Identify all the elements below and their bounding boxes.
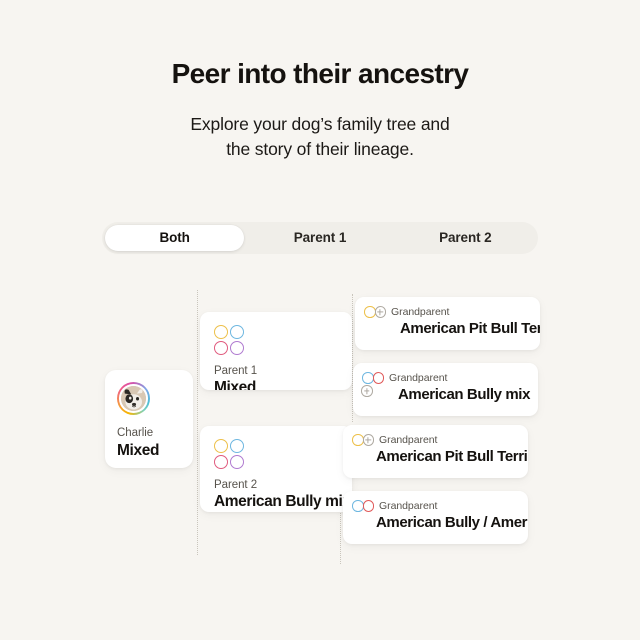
breed-rings-grandparent-2	[362, 372, 384, 384]
view-filter-tabs[interactable]: Both Parent 1 Parent 2	[102, 222, 538, 254]
grandparent-2-header: Grandparent	[362, 372, 538, 384]
ring-purple-icon	[230, 341, 244, 355]
add-breed-plus-icon[interactable]	[375, 306, 387, 318]
breed-rings-grandparent-4	[352, 500, 374, 512]
parent-2-label: Parent 2	[214, 479, 338, 491]
dog-photo-avatar	[121, 386, 146, 411]
breed-rings-grandparent-1	[364, 306, 386, 318]
grandparent-card-1[interactable]: Grandparent American Pit Bull Terri	[355, 297, 540, 350]
grandparent-card-3[interactable]: Grandparent American Pit Bull Terrier	[343, 425, 528, 478]
add-breed-plus-icon[interactable]	[361, 385, 373, 397]
page-header: Peer into their ancestry Explore your do…	[0, 0, 640, 162]
grandparent-3-header: Grandparent	[352, 434, 528, 446]
tab-parent-2[interactable]: Parent 2	[396, 225, 535, 251]
page-title: Peer into their ancestry	[0, 58, 640, 90]
grandparent-card-2[interactable]: Grandparent American Bully mix	[353, 363, 538, 416]
grandparent-card-4[interactable]: Grandparent American Bully / Americ	[343, 491, 528, 544]
ring-pink-icon	[214, 341, 228, 355]
ring-yellow-icon	[364, 306, 376, 318]
grandparent-2-breed: American Bully mix	[398, 386, 538, 403]
ring-blue-icon	[230, 439, 244, 453]
dog-card-self[interactable]: Charlie Mixed	[105, 370, 193, 468]
add-breed-plus-icon[interactable]	[363, 434, 375, 446]
ring-pink-icon	[214, 455, 228, 469]
subtitle-line-2: the story of their lineage.	[0, 137, 640, 162]
ring-yellow-icon	[214, 325, 228, 339]
grandparent-4-header: Grandparent	[352, 500, 528, 512]
parent-2-breed: American Bully mix	[214, 493, 338, 511]
ring-red-icon	[373, 372, 385, 384]
parent-1-breed: Mixed	[214, 379, 338, 390]
ring-blue-icon	[230, 325, 244, 339]
tab-both[interactable]: Both	[105, 225, 244, 251]
ring-blue-icon	[362, 372, 374, 384]
ring-purple-icon	[230, 455, 244, 469]
avatar	[117, 382, 150, 415]
parent-card-1[interactable]: Parent 1 Mixed	[200, 312, 352, 390]
breed-rings-parent-2	[214, 439, 338, 470]
grandparent-4-label: Grandparent	[379, 500, 437, 512]
avatar-ring-inner	[119, 384, 147, 412]
self-breed-value: Mixed	[117, 442, 181, 460]
subtitle-line-1: Explore your dog’s family tree and	[0, 112, 640, 137]
grandparent-2-label: Grandparent	[389, 372, 447, 384]
tab-parent-1[interactable]: Parent 1	[250, 225, 389, 251]
page-subtitle: Explore your dog’s family tree and the s…	[0, 112, 640, 162]
family-tree: Charlie Mixed Parent 1 Mixed Parent 2 Am…	[0, 280, 640, 570]
connector-line-self	[197, 290, 198, 555]
grandparent-1-label: Grandparent	[391, 306, 449, 318]
ring-yellow-icon	[352, 434, 364, 446]
ring-yellow-icon	[214, 439, 228, 453]
self-name-label: Charlie	[117, 427, 181, 439]
ring-blue-icon	[352, 500, 364, 512]
grandparent-1-breed: American Pit Bull Terri	[400, 320, 540, 337]
grandparent-4-breed: American Bully / Americ	[376, 514, 528, 531]
grandparent-3-label: Grandparent	[379, 434, 437, 446]
breed-rings-parent-1	[214, 325, 338, 356]
grandparent-1-header: Grandparent	[364, 306, 540, 318]
breed-rings-grandparent-3	[352, 434, 374, 446]
parent-1-label: Parent 1	[214, 365, 338, 377]
parent-card-2[interactable]: Parent 2 American Bully mix	[200, 426, 352, 512]
ring-red-icon	[363, 500, 375, 512]
grandparent-3-breed: American Pit Bull Terrier	[376, 448, 528, 465]
